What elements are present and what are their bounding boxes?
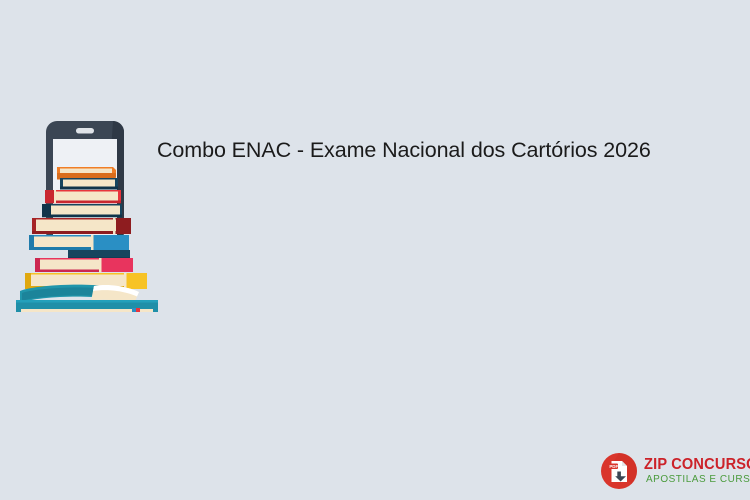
book-darkteal bbox=[42, 204, 122, 217]
bookmark-red bbox=[136, 308, 140, 312]
book-blue bbox=[29, 235, 129, 250]
brand-tagline: APOSTILAS E CURSOS bbox=[646, 473, 750, 486]
book-darkred bbox=[32, 218, 131, 234]
course-banner: Combo ENAC - Exame Nacional dos Cartório… bbox=[0, 0, 750, 500]
stack-of-books-illustration bbox=[8, 112, 178, 312]
brand-logo[interactable]: PDF ZIP CONCURSOS APOSTILAS E CURSOS bbox=[600, 452, 750, 490]
pdf-download-icon: PDF bbox=[600, 452, 638, 490]
book-red-upper bbox=[45, 190, 121, 203]
course-title: Combo ENAC - Exame Nacional dos Cartório… bbox=[157, 137, 717, 164]
book-crimson bbox=[35, 258, 133, 272]
svg-text:PDF: PDF bbox=[609, 464, 618, 469]
book-orange-top bbox=[57, 167, 116, 180]
book-base-teal bbox=[16, 300, 158, 312]
book-navy-upper bbox=[60, 178, 118, 190]
brand-wordmark: ZIP CONCURSOS APOSTILAS E CURSOS bbox=[644, 456, 750, 486]
bookmark-blue bbox=[132, 308, 136, 312]
brand-name: ZIP CONCURSOS bbox=[644, 456, 750, 473]
